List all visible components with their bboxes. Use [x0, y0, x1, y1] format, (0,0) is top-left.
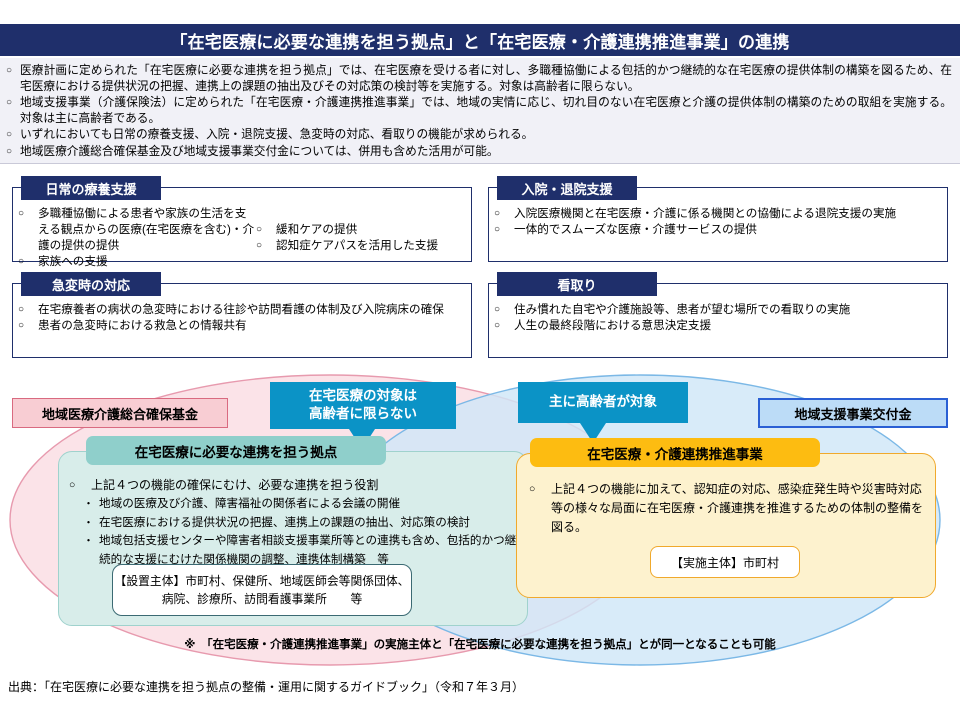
callout-body: 在宅医療の対象は 高齢者に限らない — [270, 382, 456, 429]
list-item-text: 上記４つの機能の確保にむけ、必要な連携を担う役割 — [91, 476, 517, 495]
chip-implementing-entity: 【実施主体】市町村 — [650, 546, 800, 578]
function-box-header: 入院・退院支援 — [497, 176, 637, 200]
list-item: ○ 一体的でスムーズな医療・介護サービスの提供 — [494, 222, 938, 238]
list-item: ○ 多職種協働による患者や家族の生活を支える観点からの医療(在宅医療を含む)・介… — [18, 206, 256, 254]
chip-line-1: 【設置主体】市町村、保健所、地域医師会等関係団体、 — [115, 572, 410, 590]
badge-fund-label: 地域医療介護総合確保基金 — [42, 404, 198, 423]
callout-line-1: 在宅医療の対象は — [284, 387, 442, 405]
spacer — [256, 206, 462, 222]
callout-body: 主に高齢者が対象 — [518, 382, 688, 423]
list-item: ○ 上記４つの機能の確保にむけ、必要な連携を担う役割 — [69, 476, 517, 495]
list-item-text: 一体的でスムーズな医療・介護サービスの提供 — [514, 222, 938, 238]
badge-grant-label: 地域支援事業交付金 — [794, 404, 911, 423]
function-box-list: ○ 在宅療養者の病状の急変時における往診や訪問看護の体制及び入院病床の確保 ○ … — [12, 298, 468, 334]
bullet-dot-icon: ・ — [83, 532, 99, 551]
function-box-end-of-life-care: 看取り ○ 住み慣れた自宅や介護施設等、患者が望む場所での看取りの実施 ○ 人生… — [488, 272, 948, 358]
function-box-list: ○ 住み慣れた自宅や介護施設等、患者が望む場所での看取りの実施 ○ 人生の最終段… — [488, 298, 944, 334]
bullet-circle-icon: ○ — [18, 254, 38, 270]
chip-line-2: 病院、診療所、訪問看護事業所 等 — [115, 590, 410, 608]
slide-title-bar: 「在宅医療に必要な連携を担う拠点」と「在宅医療・介護連携推進事業」の連携 — [0, 24, 960, 56]
function-box-header: 看取り — [497, 272, 657, 296]
venn-footnote: ※ 「在宅医療・介護連携推進事業」の実施主体と「在宅医療に必要な連携を担う拠点」… — [0, 636, 960, 652]
bullet-circle-icon: ○ — [6, 144, 20, 160]
bullet-circle-icon: ○ — [256, 222, 276, 238]
list-item: ○ 上記４つの機能に加えて、認知症の対応、感染症発生時や災害時対応等の様々な局面… — [529, 480, 923, 537]
function-box-columns: ○ 多職種協働による患者や家族の生活を支える観点からの医療(在宅医療を含む)・介… — [18, 206, 462, 270]
intro-bullet: ○ いずれにおいても日常の療養支援、入院・退院支援、急変時の対応、看取りの機能が… — [6, 127, 952, 143]
intro-bullet: ○ 地域支援事業（介護保険法）に定められた「在宅医療・介護連携推進事業」では、地… — [6, 95, 952, 126]
callout-mainly-elderly: 主に高齢者が対象 — [518, 382, 688, 443]
function-box-admission-discharge: 入院・退院支援 ○ 入院医療機関と在宅医療・介護に係る機関との協働による退院支援… — [488, 176, 948, 262]
bullet-circle-icon: ○ — [6, 127, 20, 143]
intro-summary-block: ○ 医療計画に定められた「在宅医療に必要な連携を担う拠点」では、在宅医療を受ける… — [0, 58, 960, 164]
chip-establishing-entities: 【設置主体】市町村、保健所、地域医師会等関係団体、 病院、診療所、訪問看護事業所… — [112, 564, 412, 616]
list-item: ○ 在宅療養者の病状の急変時における往診や訪問看護の体制及び入院病床の確保 — [18, 302, 462, 318]
bullet-circle-icon: ○ — [69, 476, 91, 495]
list-item: ○緩和ケアの提供 — [256, 222, 462, 238]
sub-list-item: ・ 地域の医療及び介護、障害福祉の関係者による会議の開催 — [69, 495, 517, 514]
intro-bullet-text: 医療計画に定められた「在宅医療に必要な連携を担う拠点」では、在宅医療を受ける者に… — [20, 63, 952, 94]
list-item: ○ 人生の最終段階における意思決定支援 — [494, 318, 938, 334]
list-item-text: 緩和ケアの提供 — [276, 222, 462, 238]
bullet-circle-icon: ○ — [18, 206, 38, 222]
sub-list-item-text: 地域の医療及び介護、障害福祉の関係者による会議の開催 — [99, 495, 517, 514]
list-item-text: 上記４つの機能に加えて、認知症の対応、感染症発生時や災害時対応等の様々な局面に在… — [551, 480, 923, 537]
bullet-circle-icon: ○ — [256, 238, 276, 254]
list-item-text: 患者の急変時における救急との情報共有 — [38, 318, 462, 334]
function-box-column-right: ○緩和ケアの提供○認知症ケアパスを活用した支援 — [256, 206, 462, 270]
intro-bullet-text: 地域医療介護総合確保基金及び地域支援事業交付金については、併用も含めた活用が可能… — [20, 144, 952, 160]
function-box-list: ○ 多職種協働による患者や家族の生活を支える観点からの医療(在宅医療を含む)・介… — [12, 202, 468, 270]
bullet-circle-icon: ○ — [529, 480, 551, 499]
bullet-circle-icon: ○ — [18, 318, 38, 334]
function-box-column-left: ○ 多職種協働による患者や家族の生活を支える観点からの医療(在宅医療を含む)・介… — [18, 206, 256, 270]
source-citation: 出典：「在宅医療に必要な連携を担う拠点の整備・運用に関するガイドブック」（令和７… — [8, 678, 524, 695]
function-box-header: 急変時の対応 — [21, 272, 161, 296]
list-item: ○ 入院医療機関と在宅医療・介護に係る機関との協働による退院支援の実施 — [494, 206, 938, 222]
bullet-circle-icon: ○ — [18, 302, 38, 318]
list-item-text: 在宅療養者の病状の急変時における往診や訪問看護の体制及び入院病床の確保 — [38, 302, 462, 318]
page-title: 「在宅医療に必要な連携を担う拠点」と「在宅医療・介護連携推進事業」の連携 — [170, 28, 789, 53]
function-box-header: 日常の療養支援 — [21, 176, 161, 200]
bullet-circle-icon: ○ — [494, 222, 514, 238]
list-item: ○ 患者の急変時における救急との情報共有 — [18, 318, 462, 334]
list-item-text: 入院医療機関と在宅医療・介護に係る機関との協働による退院支援の実施 — [514, 206, 938, 222]
function-box-daily-care: 日常の療養支援 ○ 多職種協働による患者や家族の生活を支える観点からの医療(在宅… — [12, 176, 472, 262]
bullet-dot-icon: ・ — [83, 495, 99, 514]
bullet-circle-icon: ○ — [6, 95, 20, 111]
bullet-circle-icon: ○ — [494, 206, 514, 222]
bullet-circle-icon: ○ — [494, 318, 514, 334]
intro-bullet: ○ 地域医療介護総合確保基金及び地域支援事業交付金については、併用も含めた活用が… — [6, 144, 952, 160]
venn-diagram-area: 地域医療介護総合確保基金 地域支援事業交付金 在宅医療の対象は 高齢者に限らない… — [0, 368, 960, 668]
panel-header-integration-project: 在宅医療・介護連携推進事業 — [530, 438, 820, 467]
list-item-text: 家族への支援 — [38, 254, 256, 270]
callout-line-1: 主に高齢者が対象 — [532, 393, 674, 411]
bullet-dot-icon: ・ — [83, 514, 99, 533]
list-item: ○ 住み慣れた自宅や介護施設等、患者が望む場所での看取りの実施 — [494, 302, 938, 318]
intro-bullet-text: いずれにおいても日常の療養支援、入院・退院支援、急変時の対応、看取りの機能が求め… — [20, 127, 952, 143]
list-item-text: 人生の最終段階における意思決定支援 — [514, 318, 938, 334]
list-item: ○認知症ケアパスを活用した支援 — [256, 238, 462, 254]
bullet-circle-icon: ○ — [494, 302, 514, 318]
sub-list-item-text: 在宅医療における提供状況の把握、連携上の課題の抽出、対応策の検討 — [99, 514, 517, 533]
function-box-emergency-response: 急変時の対応 ○ 在宅療養者の病状の急変時における往診や訪問看護の体制及び入院病… — [12, 272, 472, 358]
intro-bullet: ○ 医療計画に定められた「在宅医療に必要な連携を担う拠点」では、在宅医療を受ける… — [6, 63, 952, 94]
list-item-text: 認知症ケアパスを活用した支援 — [276, 238, 462, 254]
list-item-text: 住み慣れた自宅や介護施設等、患者が望む場所での看取りの実施 — [514, 302, 938, 318]
chip-label: 【実施主体】市町村 — [671, 554, 779, 571]
badge-regional-fund: 地域医療介護総合確保基金 — [12, 398, 228, 428]
function-box-list: ○ 入院医療機関と在宅医療・介護に係る機関との協働による退院支援の実施 ○ 一体… — [488, 202, 944, 238]
callout-line-2: 高齢者に限らない — [284, 405, 442, 423]
panel-header-home-care-hub: 在宅医療に必要な連携を担う拠点 — [86, 436, 386, 465]
sub-list-item: ・ 在宅医療における提供状況の把握、連携上の課題の抽出、対応策の検討 — [69, 514, 517, 533]
list-item: ○家族への支援 — [18, 254, 256, 270]
bullet-circle-icon: ○ — [6, 63, 20, 79]
list-item-text: 多職種協働による患者や家族の生活を支える観点からの医療(在宅医療を含む)・介護の… — [38, 206, 256, 254]
intro-bullet-text: 地域支援事業（介護保険法）に定められた「在宅医療・介護連携推進事業」では、地域の… — [20, 95, 952, 126]
badge-regional-grant: 地域支援事業交付金 — [758, 398, 948, 428]
